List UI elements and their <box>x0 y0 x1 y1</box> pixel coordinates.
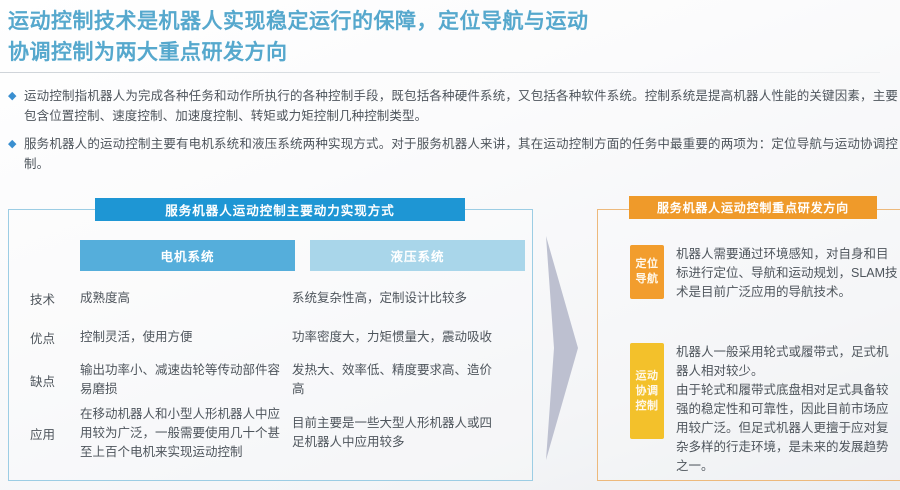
table-row: 应用 在移动机器人和小型人形机器人中应用较为广泛，一般需要使用几十个甚至上百个电… <box>14 402 529 464</box>
cell-motor: 在移动机器人和小型人形机器人中应用较为广泛，一般需要使用几十个甚至上百个电机来实… <box>80 405 292 462</box>
left-panel-title: 服务机器人运动控制主要动力实现方式 <box>95 198 465 221</box>
table-row: 优点 控制灵活，使用方便 功率密度大，力矩惯量大，震动吸收 <box>14 316 529 358</box>
list-item: ◆ 运动控制指机器人为完成各种任务和动作所执行的各种控制手段，既包括各种硬件系统… <box>8 86 898 126</box>
right-arrow-icon <box>544 232 580 464</box>
bullet-text: 运动控制指机器人为完成各种任务和动作所执行的各种控制手段，既包括各种硬件系统，又… <box>24 86 898 126</box>
list-item: ◆ 服务机器人的运动控制主要有电机系统和液压系统两种实现方式。对于服务机器人来讲… <box>8 134 898 174</box>
table-row: 技术 成熟度高 系统复杂性高，定制设计比较多 <box>14 280 529 316</box>
focus-item-localization: 定位导航 机器人需要通过环境感知，对自身和目标进行定位、导航和运动规划，SLAM… <box>630 245 898 302</box>
column-header-hydraulic: 液压系统 <box>310 240 525 271</box>
cell-hydraulic: 目前主要是一些大型人形机器人或四足机器人中应用较多 <box>292 414 507 452</box>
right-panel-title: 服务机器人运动控制重点研发方向 <box>629 196 877 219</box>
page-title-line-2: 协调控制为两大重点研发方向 <box>8 37 848 68</box>
row-label: 技术 <box>14 289 80 308</box>
column-header-motor: 电机系统 <box>80 240 295 271</box>
focus-item-coordination: 运动协调控制 机器人一般采用轮式或履带式，足式机器人相对较少。由于轮式和履带式底… <box>630 343 898 476</box>
row-label: 缺点 <box>14 371 80 390</box>
bullet-list: ◆ 运动控制指机器人为完成各种任务和动作所执行的各种控制手段，既包括各种硬件系统… <box>8 86 898 182</box>
row-label: 应用 <box>14 424 80 443</box>
cell-hydraulic: 发热大、效率低、精度要求高、造价高 <box>292 361 507 399</box>
diamond-bullet-icon: ◆ <box>8 134 24 151</box>
focus-chip-localization: 定位导航 <box>630 245 664 299</box>
bullet-text: 服务机器人的运动控制主要有电机系统和液压系统两种实现方式。对于服务机器人来讲，其… <box>24 134 898 174</box>
focus-text-coordination: 机器人一般采用轮式或履带式，足式机器人相对较少。由于轮式和履带式底盘相对足式具备… <box>664 343 898 476</box>
cell-motor: 控制灵活，使用方便 <box>80 328 292 347</box>
page-title-line-1: 运动控制技术是机器人实现稳定运行的保障，定位导航与运动 <box>8 6 848 37</box>
table-row: 缺点 输出功率小、减速齿轮等传动部件容易磨损 发热大、效率低、精度要求高、造价高 <box>14 358 529 402</box>
cell-motor: 输出功率小、减速齿轮等传动部件容易磨损 <box>80 361 292 399</box>
cell-motor: 成熟度高 <box>80 289 292 308</box>
cell-hydraulic: 系统复杂性高，定制设计比较多 <box>292 289 507 308</box>
focus-text-localization: 机器人需要通过环境感知，对自身和目标进行定位、导航和运动规划，SLAM技术是目前… <box>664 245 898 302</box>
row-label: 优点 <box>14 328 80 347</box>
page-title: 运动控制技术是机器人实现稳定运行的保障，定位导航与运动 协调控制为两大重点研发方… <box>8 6 848 68</box>
diamond-bullet-icon: ◆ <box>8 86 24 103</box>
cell-hydraulic: 功率密度大，力矩惯量大，震动吸收 <box>292 328 507 347</box>
comparison-table: 技术 成熟度高 系统复杂性高，定制设计比较多 优点 控制灵活，使用方便 功率密度… <box>14 280 529 464</box>
title-divider <box>0 72 880 73</box>
focus-chip-coordination: 运动协调控制 <box>630 343 664 439</box>
